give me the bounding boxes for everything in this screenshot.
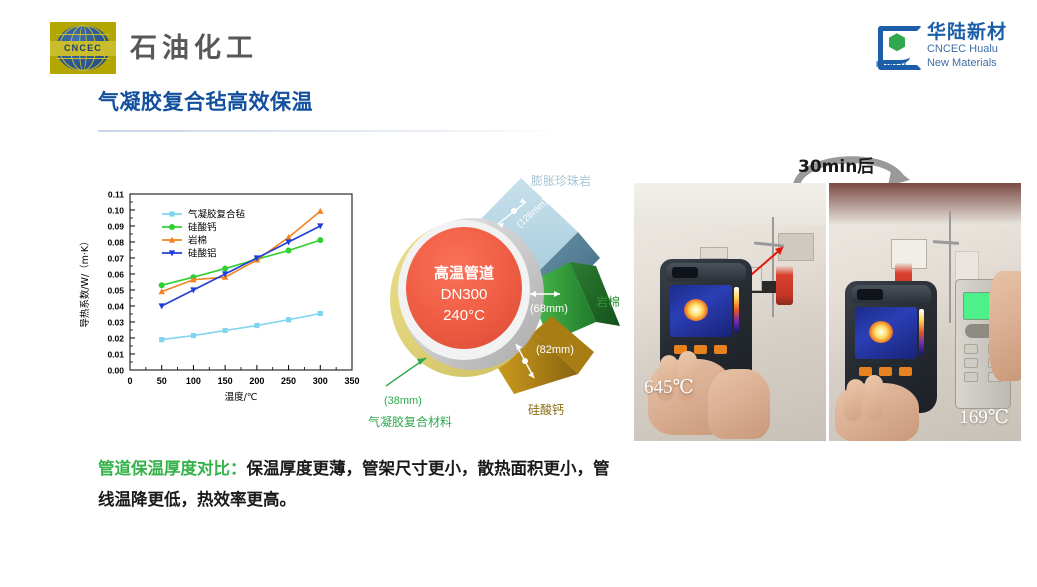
- svg-text:250: 250: [281, 376, 296, 386]
- thermal-conductivity-chart: 0.000.010.020.030.040.050.060.070.080.09…: [74, 182, 364, 417]
- svg-text:150: 150: [218, 376, 233, 386]
- photo-before: 645℃: [634, 183, 826, 441]
- svg-text:导热系数/W/（m·K）: 导热系数/W/（m·K）: [79, 236, 91, 327]
- page-title: 气凝胶复合毡高效保温: [98, 90, 313, 115]
- core-label-line-1: 高温管道: [434, 264, 494, 282]
- svg-text:0.05: 0.05: [107, 286, 124, 296]
- experiment-photos: 645℃: [634, 183, 1022, 441]
- photo-after: 169℃: [829, 183, 1021, 441]
- header-right-brand: HUALU 华陆新材 CNCEC Hualu New Materials: [876, 22, 1007, 70]
- header-left-brand: CNCEC 石油化工: [50, 22, 258, 74]
- svg-text:300: 300: [313, 376, 328, 386]
- svg-text:0.00: 0.00: [107, 366, 124, 376]
- svg-text:0.11: 0.11: [108, 190, 124, 200]
- core-label-line-3: 240°C: [443, 307, 485, 324]
- core-label-line-2: DN300: [441, 286, 488, 303]
- header-brand-cn: 石油化工: [130, 35, 258, 62]
- svg-text:0.09: 0.09: [107, 222, 124, 232]
- calcium-silicate-label: 硅酸钙: [528, 402, 564, 417]
- svg-text:200: 200: [249, 376, 264, 386]
- svg-text:0.10: 0.10: [107, 206, 124, 216]
- svg-text:硅酸钙: 硅酸钙: [188, 222, 217, 234]
- cncec-logo-icon: CNCEC: [50, 22, 116, 74]
- svg-text:0.07: 0.07: [107, 254, 124, 264]
- slide: CNCEC 石油化工 HUALU 华陆新材 CNCEC Hualu New Ma…: [0, 0, 1037, 587]
- rockwool-label: 岩棉: [596, 294, 620, 309]
- svg-text:0: 0: [127, 376, 132, 386]
- svg-text:350: 350: [344, 376, 359, 386]
- svg-text:0.03: 0.03: [107, 318, 124, 328]
- aerogel-thickness: (38mm): [384, 395, 422, 407]
- hualu-brand-en-2: New Materials: [927, 57, 1007, 71]
- transition-label: 30min后: [798, 159, 874, 176]
- aerogel-label: 气凝胶复合材料: [368, 414, 452, 429]
- hualu-brand-en-1: CNCEC Hualu: [927, 43, 1007, 57]
- temp-label-before: 645℃: [644, 378, 694, 397]
- hualu-logo-text: HUALU: [876, 61, 907, 69]
- rockwool-thickness: (68mm): [530, 303, 568, 315]
- svg-text:温度/℃: 温度/℃: [225, 391, 258, 403]
- hualu-logo-icon: HUALU: [876, 24, 920, 68]
- svg-text:岩棉: 岩棉: [188, 235, 207, 247]
- svg-text:0.04: 0.04: [107, 302, 124, 312]
- slide-canvas: CNCEC 石油化工 HUALU 华陆新材 CNCEC Hualu New Ma…: [12, 6, 1025, 581]
- title-divider: [98, 130, 566, 132]
- perlite-label: 膨胀珍珠岩: [531, 173, 591, 188]
- cncec-logo-text: CNCEC: [64, 44, 102, 53]
- hualu-brand-cn: 华陆新材: [927, 22, 1007, 43]
- bottom-note: 管道保温厚度对比：保温厚度更薄，管架尺寸更小，散热面积更小，管线温降更低，热效率…: [98, 454, 618, 515]
- svg-text:0.01: 0.01: [107, 350, 124, 360]
- calcium-silicate-thickness: (82mm): [536, 344, 574, 356]
- pipe-insulation-diagram: 高温管道 DN300 240°C (128mm) 膨胀珍珠岩 (68mm) 岩棉: [364, 166, 636, 431]
- svg-text:0.06: 0.06: [107, 270, 124, 280]
- bottom-note-highlight: 管道保温厚度对比：: [98, 459, 247, 478]
- svg-text:50: 50: [157, 376, 167, 386]
- chart-svg: 0.000.010.020.030.040.050.060.070.080.09…: [74, 182, 364, 417]
- svg-text:0.08: 0.08: [107, 238, 124, 248]
- svg-text:气凝胶复合毡: 气凝胶复合毡: [188, 209, 246, 221]
- temp-label-after: 169℃: [959, 408, 1009, 427]
- svg-text:硅酸铝: 硅酸铝: [188, 248, 217, 260]
- svg-text:0.02: 0.02: [107, 334, 124, 344]
- svg-text:100: 100: [186, 376, 201, 386]
- pipe-diagram-svg: 高温管道 DN300 240°C (128mm) 膨胀珍珠岩 (68mm) 岩棉: [364, 166, 636, 431]
